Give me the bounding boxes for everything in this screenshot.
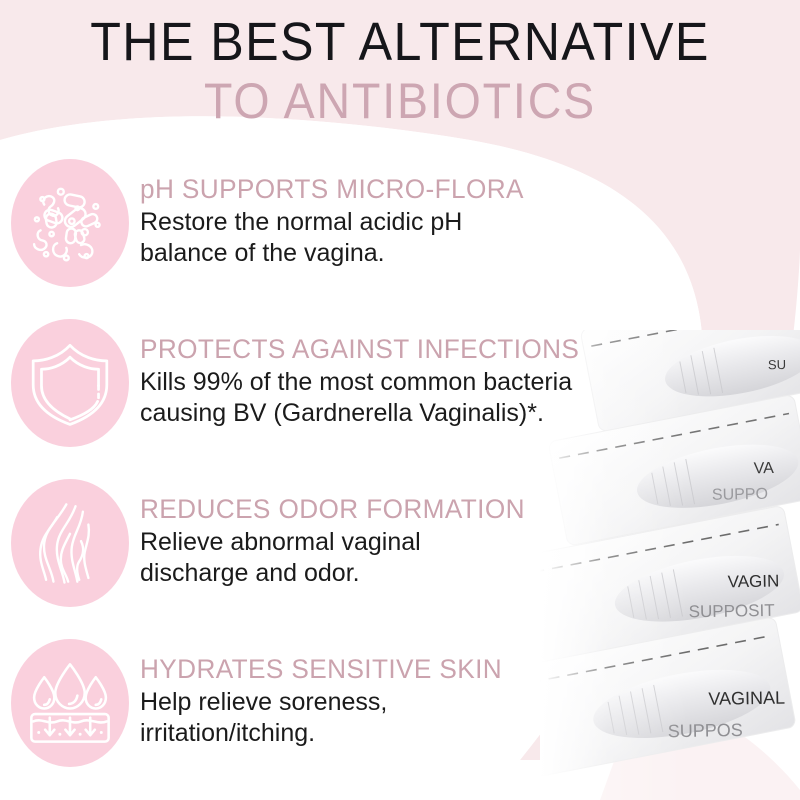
- page-subtitle: TO ANTIBIOTICS: [28, 74, 772, 128]
- feature-body: Relieve abnormal vaginal discharge and o…: [140, 527, 800, 589]
- icon-circle: [11, 319, 129, 447]
- feature-heading: REDUCES ODOR FORMATION: [140, 493, 780, 525]
- header: THE BEST ALTERNATIVE TO ANTIBIOTICS: [0, 0, 800, 128]
- feature-text-block: HYDRATES SENSITIVE SKIN Help relieve sor…: [140, 635, 800, 749]
- infographic-canvas: SU VA SUPPO: [0, 0, 800, 800]
- feature-item-ph-supports-micro-flora: pH SUPPORTS MICRO-FLORA Restore the norm…: [0, 155, 800, 315]
- page-title: THE BEST ALTERNATIVE: [28, 12, 772, 72]
- feature-icon-slot: [0, 475, 140, 607]
- shield-icon: [24, 337, 116, 429]
- feature-icon-slot: [0, 155, 140, 287]
- feature-item-hydrates-sensitive-skin: HYDRATES SENSITIVE SKIN Help relieve sor…: [0, 635, 800, 795]
- icon-circle: [11, 479, 129, 607]
- icon-circle: [11, 639, 129, 767]
- odor-waves-icon: [24, 497, 116, 589]
- feature-item-protects-against-infections: PROTECTS AGAINST INFECTIONS Kills 99% of…: [0, 315, 800, 475]
- feature-text-block: REDUCES ODOR FORMATION Relieve abnormal …: [140, 475, 800, 589]
- feature-icon-slot: [0, 315, 140, 447]
- feature-list: pH SUPPORTS MICRO-FLORA Restore the norm…: [0, 155, 800, 795]
- feature-body: Kills 99% of the most common bacteria ca…: [140, 367, 800, 429]
- feature-text-block: PROTECTS AGAINST INFECTIONS Kills 99% of…: [140, 315, 800, 429]
- icon-circle: [11, 159, 129, 287]
- feature-body: Help relieve soreness, irritation/itchin…: [140, 687, 800, 749]
- feature-heading: HYDRATES SENSITIVE SKIN: [140, 653, 780, 685]
- bacteria-icon: [24, 177, 116, 269]
- feature-heading: pH SUPPORTS MICRO-FLORA: [140, 173, 780, 205]
- feature-heading: PROTECTS AGAINST INFECTIONS: [140, 333, 780, 365]
- feature-item-reduces-odor-formation: REDUCES ODOR FORMATION Relieve abnormal …: [0, 475, 800, 635]
- hydration-droplets-icon: [24, 657, 116, 749]
- feature-text-block: pH SUPPORTS MICRO-FLORA Restore the norm…: [140, 155, 800, 269]
- feature-icon-slot: [0, 635, 140, 767]
- feature-body: Restore the normal acidic pH balance of …: [140, 207, 800, 269]
